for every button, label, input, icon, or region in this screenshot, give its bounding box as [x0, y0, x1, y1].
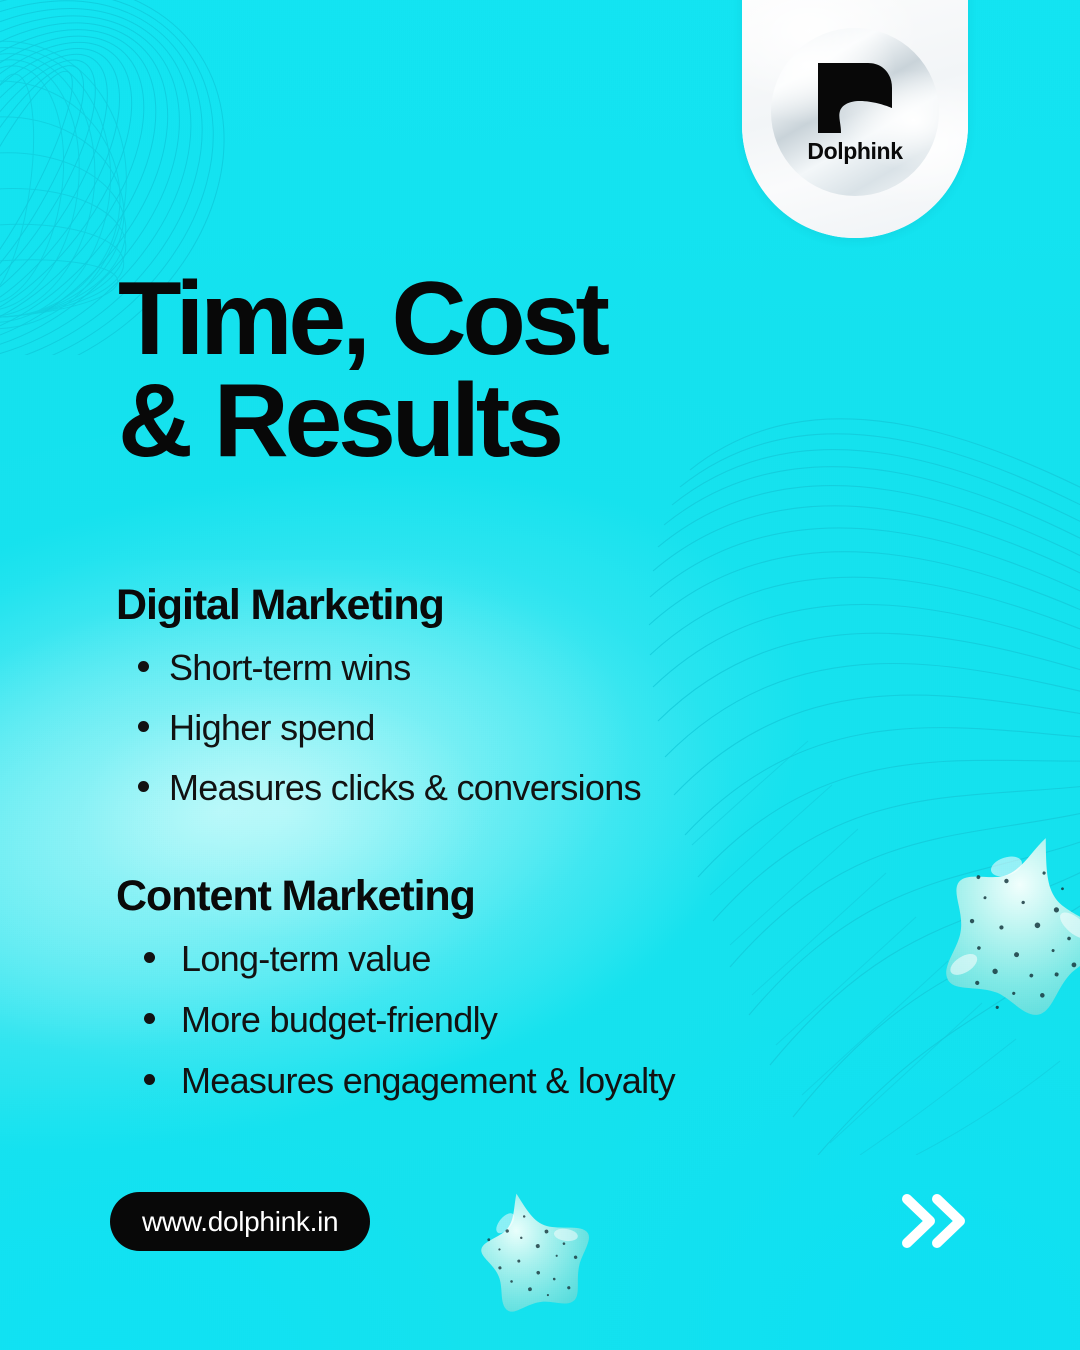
- bullet-dot-icon: [144, 1013, 155, 1024]
- double-chevron-right-icon[interactable]: [898, 1188, 970, 1254]
- list-item-label: Higher spend: [169, 710, 375, 746]
- bullet-dot-icon: [144, 1074, 155, 1085]
- section-content-marketing: Content Marketing Long-term value More b…: [116, 874, 916, 1124]
- list-item: Long-term value: [144, 941, 916, 977]
- bullet-dot-icon: [144, 952, 155, 963]
- content-layer: Time, Cost & Results Digital Marketing S…: [0, 0, 1080, 1350]
- bullet-list: Short-term wins Higher spend Measures cl…: [116, 650, 916, 806]
- list-item-label: Short-term wins: [169, 650, 411, 686]
- website-url-label: www.dolphink.in: [142, 1206, 338, 1238]
- social-post-canvas: Dolphink Time, Cost & Results Digital Ma…: [0, 0, 1080, 1350]
- section-title: Digital Marketing: [116, 583, 916, 628]
- list-item: Measures engagement & loyalty: [144, 1063, 916, 1099]
- bullet-dot-icon: [138, 661, 149, 672]
- list-item-label: Measures clicks & conversions: [169, 770, 641, 806]
- list-item-label: More budget-friendly: [181, 1002, 497, 1038]
- list-item: Measures clicks & conversions: [138, 770, 916, 806]
- list-item: Higher spend: [138, 710, 916, 746]
- bullet-list: Long-term value More budget-friendly Mea…: [116, 941, 916, 1099]
- website-url-pill[interactable]: www.dolphink.in: [110, 1192, 370, 1251]
- headline-line-2: & Results: [118, 370, 838, 472]
- section-title: Content Marketing: [116, 874, 916, 919]
- bullet-dot-icon: [138, 721, 149, 732]
- list-item: More budget-friendly: [144, 1002, 916, 1038]
- page-title: Time, Cost & Results: [118, 268, 838, 473]
- list-item: Short-term wins: [138, 650, 916, 686]
- list-item-label: Long-term value: [181, 941, 431, 977]
- list-item-label: Measures engagement & loyalty: [181, 1063, 675, 1099]
- section-digital-marketing: Digital Marketing Short-term wins Higher…: [116, 583, 916, 830]
- bullet-dot-icon: [138, 781, 149, 792]
- headline-line-1: Time, Cost: [118, 268, 838, 370]
